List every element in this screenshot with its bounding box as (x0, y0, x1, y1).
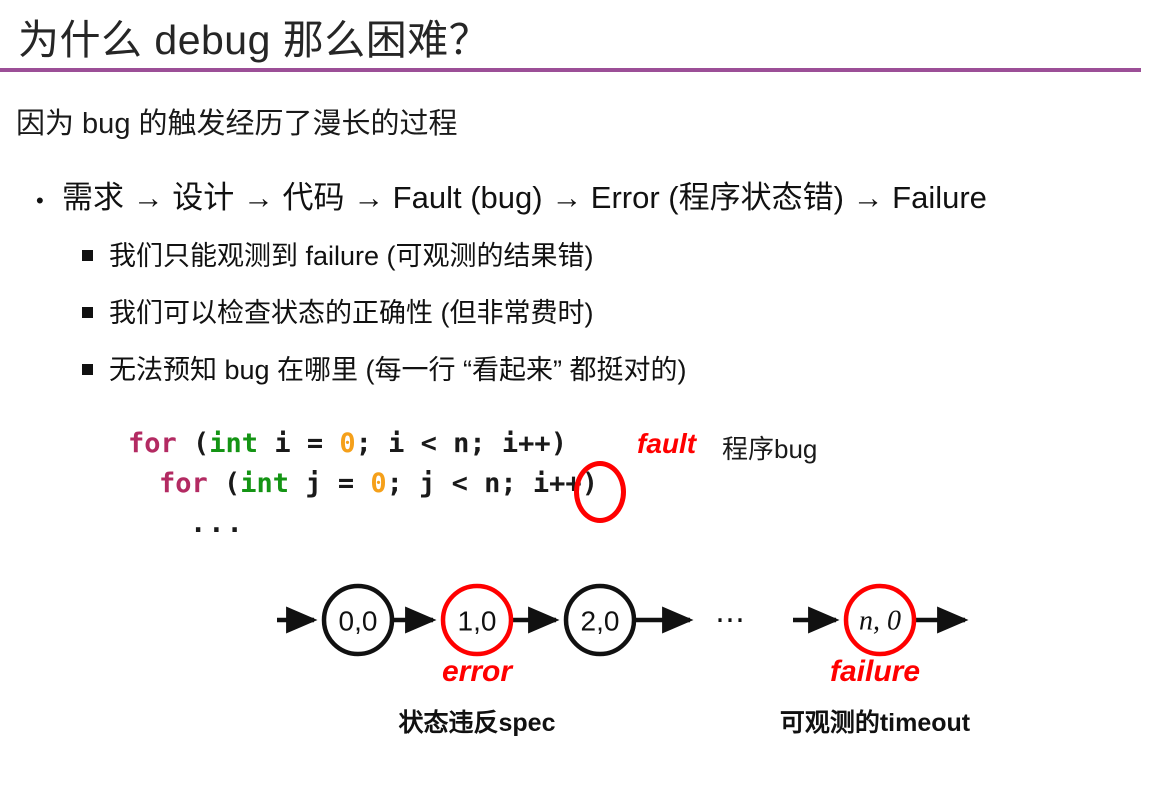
diagram-ellipsis: ⋯ (715, 603, 745, 638)
bullet-level2-label: 我们可以检查状态的正确性 (但非常费时) (109, 291, 593, 330)
bullet-level2-label: 我们只能观测到 failure (可观测的结果错) (109, 234, 594, 273)
error-label: error (442, 655, 512, 689)
code-token: ( (177, 428, 210, 459)
code-token: ; i < n; i++) (356, 428, 567, 459)
code-snippet: for (int i = 0; i < n; i++)for (int j = … (128, 424, 598, 544)
code-token: 0 (370, 468, 386, 499)
bullet-level1: • 需求 → 设计 → 代码 → Fault (bug) → Error (程序… (36, 172, 987, 217)
failure-label: failure (830, 655, 920, 689)
bullet-level2: 我们只能观测到 failure (可观测的结果错) (82, 234, 594, 273)
code-line: ... (128, 504, 598, 544)
title-divider (0, 68, 1141, 72)
failure-caption: 可观测的timeout (780, 703, 970, 739)
fault-annotation-note: 程序bug (722, 429, 817, 466)
code-token: for (159, 468, 208, 499)
bullet-level1-label: 需求 → 设计 → 代码 → Fault (bug) → Error (程序状态… (62, 172, 987, 217)
bullet-square-icon (82, 307, 93, 318)
state-node-label: 0,0 (339, 606, 378, 637)
state-node-label: 1,0 (458, 606, 497, 637)
code-token: int (209, 428, 258, 459)
state-diagram-canvas: 0,01,02,0n, 0 ⋯ (0, 570, 1154, 680)
code-token: j = (289, 468, 370, 499)
state-node-label: n, 0 (859, 606, 901, 637)
state-node-label: 2,0 (581, 606, 620, 637)
state-transition-diagram: 0,01,02,0n, 0 ⋯ (0, 570, 1154, 680)
code-token: int (240, 468, 289, 499)
code-token: ( (208, 468, 241, 499)
bullet-level2: 我们可以检查状态的正确性 (但非常费时) (82, 291, 593, 330)
code-token: for (128, 428, 177, 459)
code-line: for (int j = 0; j < n; i++) (128, 464, 598, 504)
bullet-dot-icon: • (36, 190, 62, 212)
code-token: ; j < n; i++) (387, 468, 598, 499)
code-line: for (int i = 0; i < n; i++) (128, 424, 598, 464)
bullet-level2-label: 无法预知 bug 在哪里 (每一行 “看起来” 都挺对的) (109, 348, 687, 387)
error-caption: 状态违反spec (399, 703, 556, 739)
fault-annotation-label: fault (637, 428, 696, 460)
bullet-square-icon (82, 364, 93, 375)
code-token: 0 (339, 428, 355, 459)
lead-paragraph: 因为 bug 的触发经历了漫长的过程 (16, 100, 458, 142)
bullet-square-icon (82, 250, 93, 261)
code-token: ... (190, 508, 245, 539)
bullet-level2: 无法预知 bug 在哪里 (每一行 “看起来” 都挺对的) (82, 348, 687, 387)
page-title: 为什么 debug 那么困难？ (18, 6, 490, 66)
code-token: i = (258, 428, 339, 459)
